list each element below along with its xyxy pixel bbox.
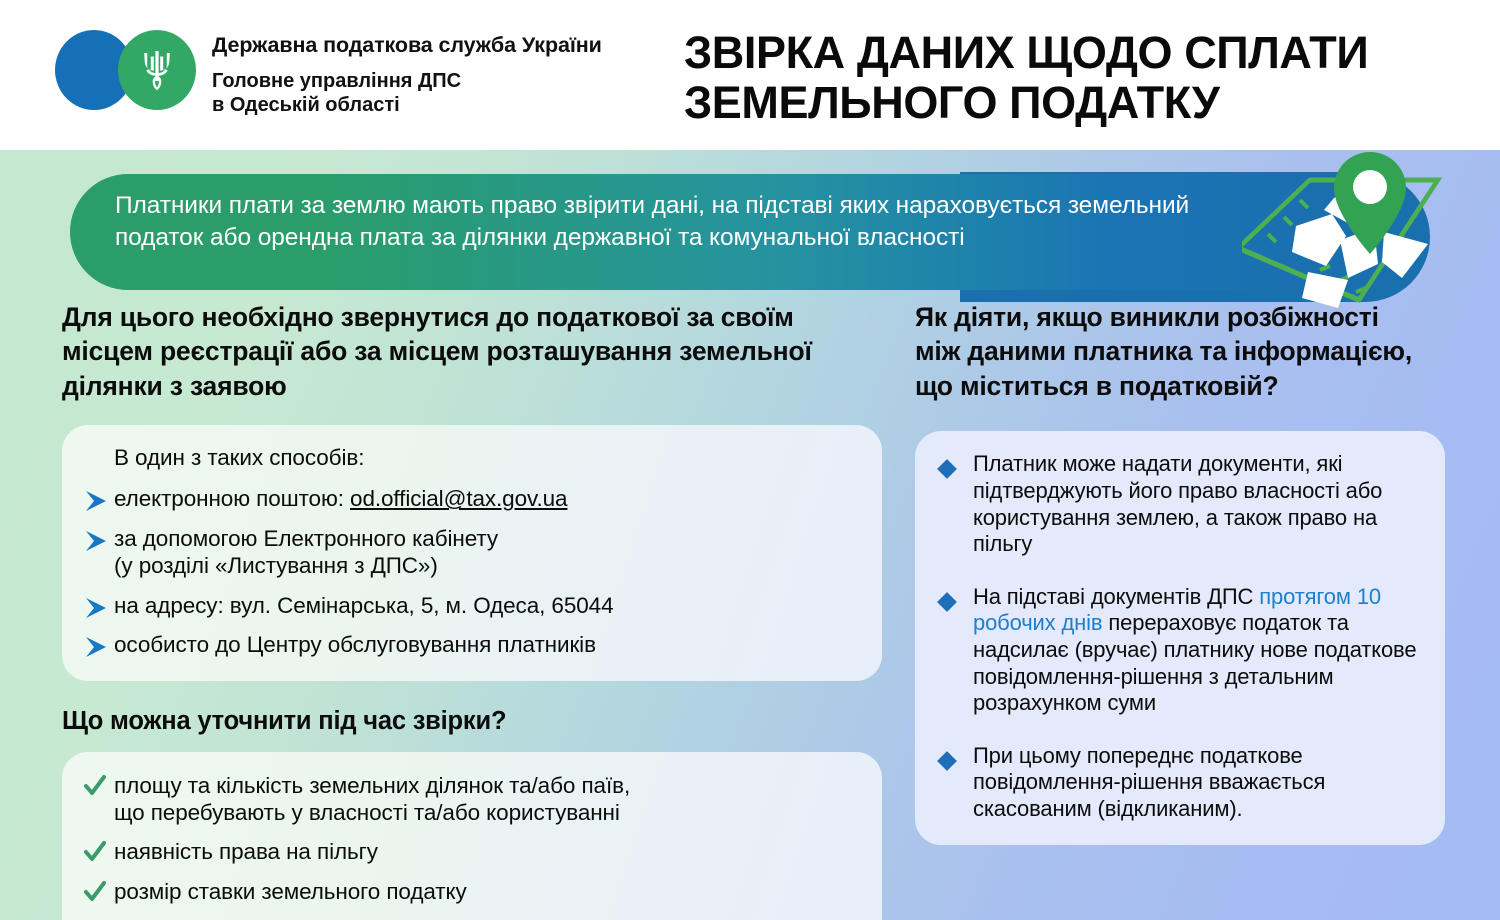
method-in-person: особисто до Центру обслуговування платни… [114,631,856,658]
left-sub-heading: Що можна уточнити під час звірки? [62,707,882,736]
check-icon [84,772,114,797]
right-column: Як діяти, якщо виникли розбіжності між д… [915,300,1445,845]
list-item: особисто до Центру обслуговування платни… [84,631,856,658]
list-item: Платник може надати документи, які підтв… [935,451,1423,557]
chevron-right-icon [84,631,114,658]
list-item: за допомогою Електронного кабінету (у ро… [84,525,856,580]
intro-banner-text: Платники плати за землю мають право звір… [115,190,1205,254]
check-item-rate: розмір ставки земельного податку [114,878,856,905]
chevron-right-icon [84,525,114,552]
map-location-icon [1242,150,1492,315]
procedure-item-recalculation: На підставі документів ДПС протягом 10 р… [973,584,1423,717]
method-email-prefix: електронною поштою: [114,486,350,511]
page-title: ЗВІРКА ДАНИХ ЩОДО СПЛАТИ ЗЕМЕЛЬНОГО ПОДА… [684,28,1484,129]
list-item: на адресу: вул. Семінарська, 5, м. Одеса… [84,592,856,619]
method-email: електронною поштою: od.official@tax.gov.… [114,485,856,512]
diamond-bullet-icon [935,584,973,614]
trident-icon [118,30,196,110]
diamond-bullet-icon [935,451,973,481]
procedure-card: Платник може надати документи, які підтв… [915,431,1445,844]
list-item: електронною поштою: od.official@tax.gov.… [84,485,856,512]
recalc-part1: На підставі документів ДПС [973,584,1259,609]
org-name-primary: Державна податкова служба України [212,33,672,58]
diamond-bullet-icon [935,743,973,773]
check-item-area: площу та кількість земельних ділянок та/… [114,772,856,827]
methods-intro: В один з таких способів: [114,445,856,471]
chevron-right-icon [84,592,114,619]
list-item: На підставі документів ДПС протягом 10 р… [935,584,1423,717]
left-column-heading: Для цього необхідно звернутися до податк… [62,300,872,403]
list-item: розмір ставки земельного податку [84,878,856,905]
check-icon [84,878,114,903]
email-link[interactable]: od.official@tax.gov.ua [350,486,567,511]
check-icon [84,838,114,863]
list-item: При цьому попереднє податкове повідомлен… [935,743,1423,823]
list-item: площу та кількість земельних ділянок та/… [84,772,856,827]
method-cabinet: за допомогою Електронного кабінету (у ро… [114,525,856,580]
checklist-card: площу та кількість земельних ділянок та/… [62,752,882,920]
header-band: Державна податкова служба України Головн… [0,0,1500,150]
methods-card: В один з таких способів: електронною пош… [62,425,882,680]
procedure-item-documents: Платник може надати документи, які підтв… [973,451,1423,557]
procedure-item-cancellation: При цьому попереднє податкове повідомлен… [973,743,1423,823]
list-item: наявність права на пільгу [84,838,856,865]
org-name-block: Державна податкова служба України Головн… [212,33,672,117]
left-column: Для цього необхідно звернутися до податк… [62,300,882,920]
intro-banner: Платники плати за землю мають право звір… [70,174,1350,290]
right-column-heading: Як діяти, якщо виникли розбіжності між д… [915,300,1415,403]
org-name-secondary: Головне управління ДПС в Одеській област… [212,70,672,117]
check-item-benefit: наявність права на пільгу [114,838,856,865]
chevron-right-icon [84,485,114,512]
dps-logo [55,30,205,110]
method-address: на адресу: вул. Семінарська, 5, м. Одеса… [114,592,856,619]
infographic-page: Державна податкова служба України Головн… [0,0,1500,920]
